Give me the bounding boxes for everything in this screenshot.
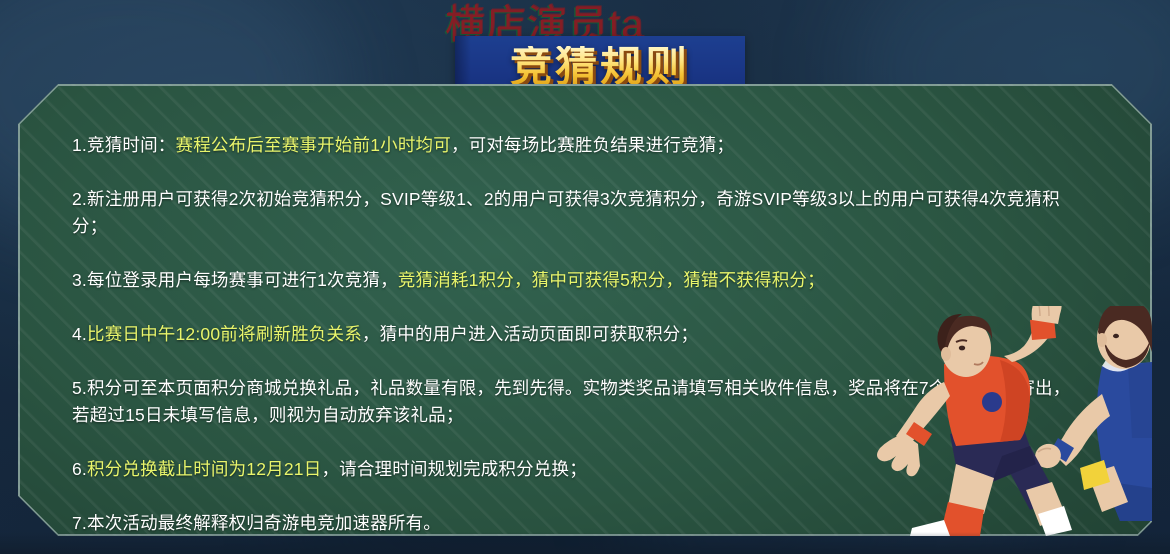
rule-text: 5.积分可至本页面积分商城兑换礼品，礼品数量有限，先到先得。实物类奖品请填写相关… — [72, 378, 1070, 424]
rules-panel: 1.竞猜时间：赛程公布后至赛事开始前1小时均可，可对每场比赛胜负结果进行竞猜；2… — [18, 84, 1152, 536]
rule-highlight-text: 赛程公布后至赛事开始前1小时均可 — [176, 135, 451, 155]
rule-item: 5.积分可至本页面积分商城兑换礼品，礼品数量有限，先到先得。实物类奖品请填写相关… — [72, 375, 1082, 428]
rule-text: 6. — [72, 459, 87, 479]
page-title: 竞猜规则 — [510, 46, 690, 88]
rule-text: ，请合理时间规划完成积分兑换； — [321, 459, 587, 479]
rule-text: ，猜中的用户进入活动页面即可获取积分； — [362, 324, 698, 344]
rule-highlight-text: 比赛日中午12:00前将刷新胜负关系 — [87, 324, 362, 344]
rule-text: 7.本次活动最终解释权归奇游电竞加速器所有。 — [72, 513, 441, 533]
rule-text: 2.新注册用户可获得2次初始竞猜积分，SVIP等级1、2的用户可获得3次竞猜积分… — [72, 189, 1060, 235]
rules-list: 1.竞猜时间：赛程公布后至赛事开始前1小时均可，可对每场比赛胜负结果进行竞猜；2… — [72, 132, 1082, 536]
rule-text: 4. — [72, 324, 87, 344]
rule-text: 1.竞猜时间： — [72, 135, 176, 155]
rule-item: 4.比赛日中午12:00前将刷新胜负关系，猜中的用户进入活动页面即可获取积分； — [72, 321, 1082, 347]
page-background: 横店演员ta 竞猜规则 1.竞猜时间：赛程公布后至赛事开始前1小时均可，可对每场… — [0, 0, 1170, 554]
rule-item: 6.积分兑换截止时间为12月21日，请合理时间规划完成积分兑换； — [72, 456, 1082, 482]
rule-item: 3.每位登录用户每场赛事可进行1次竞猜，竞猜消耗1积分，猜中可获得5积分，猜错不… — [72, 267, 1082, 293]
rule-highlight-text: 积分兑换截止时间为12月21日 — [87, 459, 321, 479]
rule-text: ，可对每场比赛胜负结果进行竞猜； — [451, 135, 734, 155]
rule-item: 1.竞猜时间：赛程公布后至赛事开始前1小时均可，可对每场比赛胜负结果进行竞猜； — [72, 132, 1082, 158]
rule-item: 2.新注册用户可获得2次初始竞猜积分，SVIP等级1、2的用户可获得3次竞猜积分… — [72, 186, 1082, 239]
rule-item: 7.本次活动最终解释权归奇游电竞加速器所有。 — [72, 510, 1082, 536]
rule-text: 3.每位登录用户每场赛事可进行1次竞猜， — [72, 270, 398, 290]
rule-highlight-text: 竞猜消耗1积分，猜中可获得5积分，猜错不获得积分； — [398, 270, 825, 290]
